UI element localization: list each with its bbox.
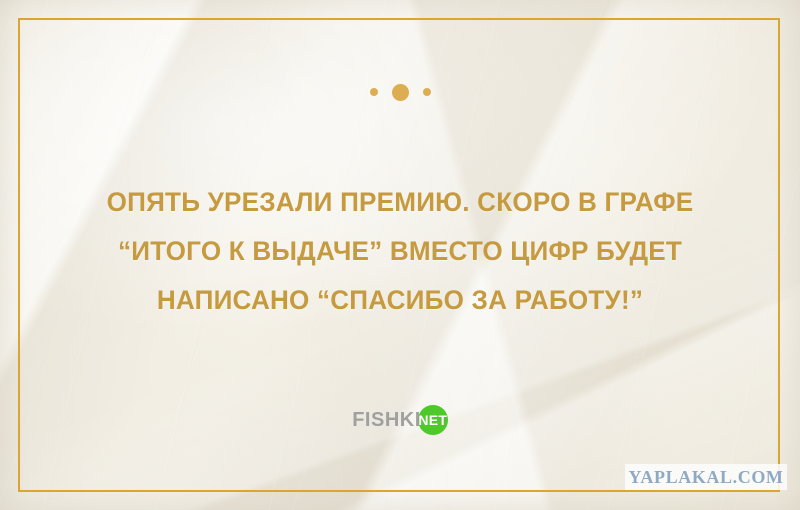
fishki-net-badge-label: NET (418, 412, 447, 428)
fishki-wordmark: FISHKI (352, 409, 421, 432)
dot-left-icon (370, 88, 378, 96)
dot-ornament (0, 82, 800, 102)
quote-line-1: ОПЯТЬ УРЕЗАЛИ ПРЕМИЮ. СКОРО В ГРАФЕ (45, 178, 754, 227)
quote-card: ОПЯТЬ УРЕЗАЛИ ПРЕМИЮ. СКОРО В ГРАФЕ “ИТО… (0, 0, 800, 510)
dot-right-icon (423, 88, 431, 96)
quote-line-3: НАПИСАНО “СПАСИБО ЗА РАБОТУ!” (45, 276, 754, 325)
yaplakal-watermark-label: YAPLAKAL.COM (628, 467, 783, 488)
fishki-net-badge-icon: NET (418, 405, 448, 435)
fishki-net-logo: FISHKI NET (0, 404, 800, 436)
quote-text: ОПЯТЬ УРЕЗАЛИ ПРЕМИЮ. СКОРО В ГРАФЕ “ИТО… (40, 178, 760, 325)
quote-line-2: “ИТОГО К ВЫДАЧЕ” ВМЕСТО ЦИФР БУДЕТ (45, 227, 754, 276)
yaplakal-watermark: YAPLAKAL.COM (625, 464, 787, 490)
dot-center-icon (392, 84, 409, 101)
